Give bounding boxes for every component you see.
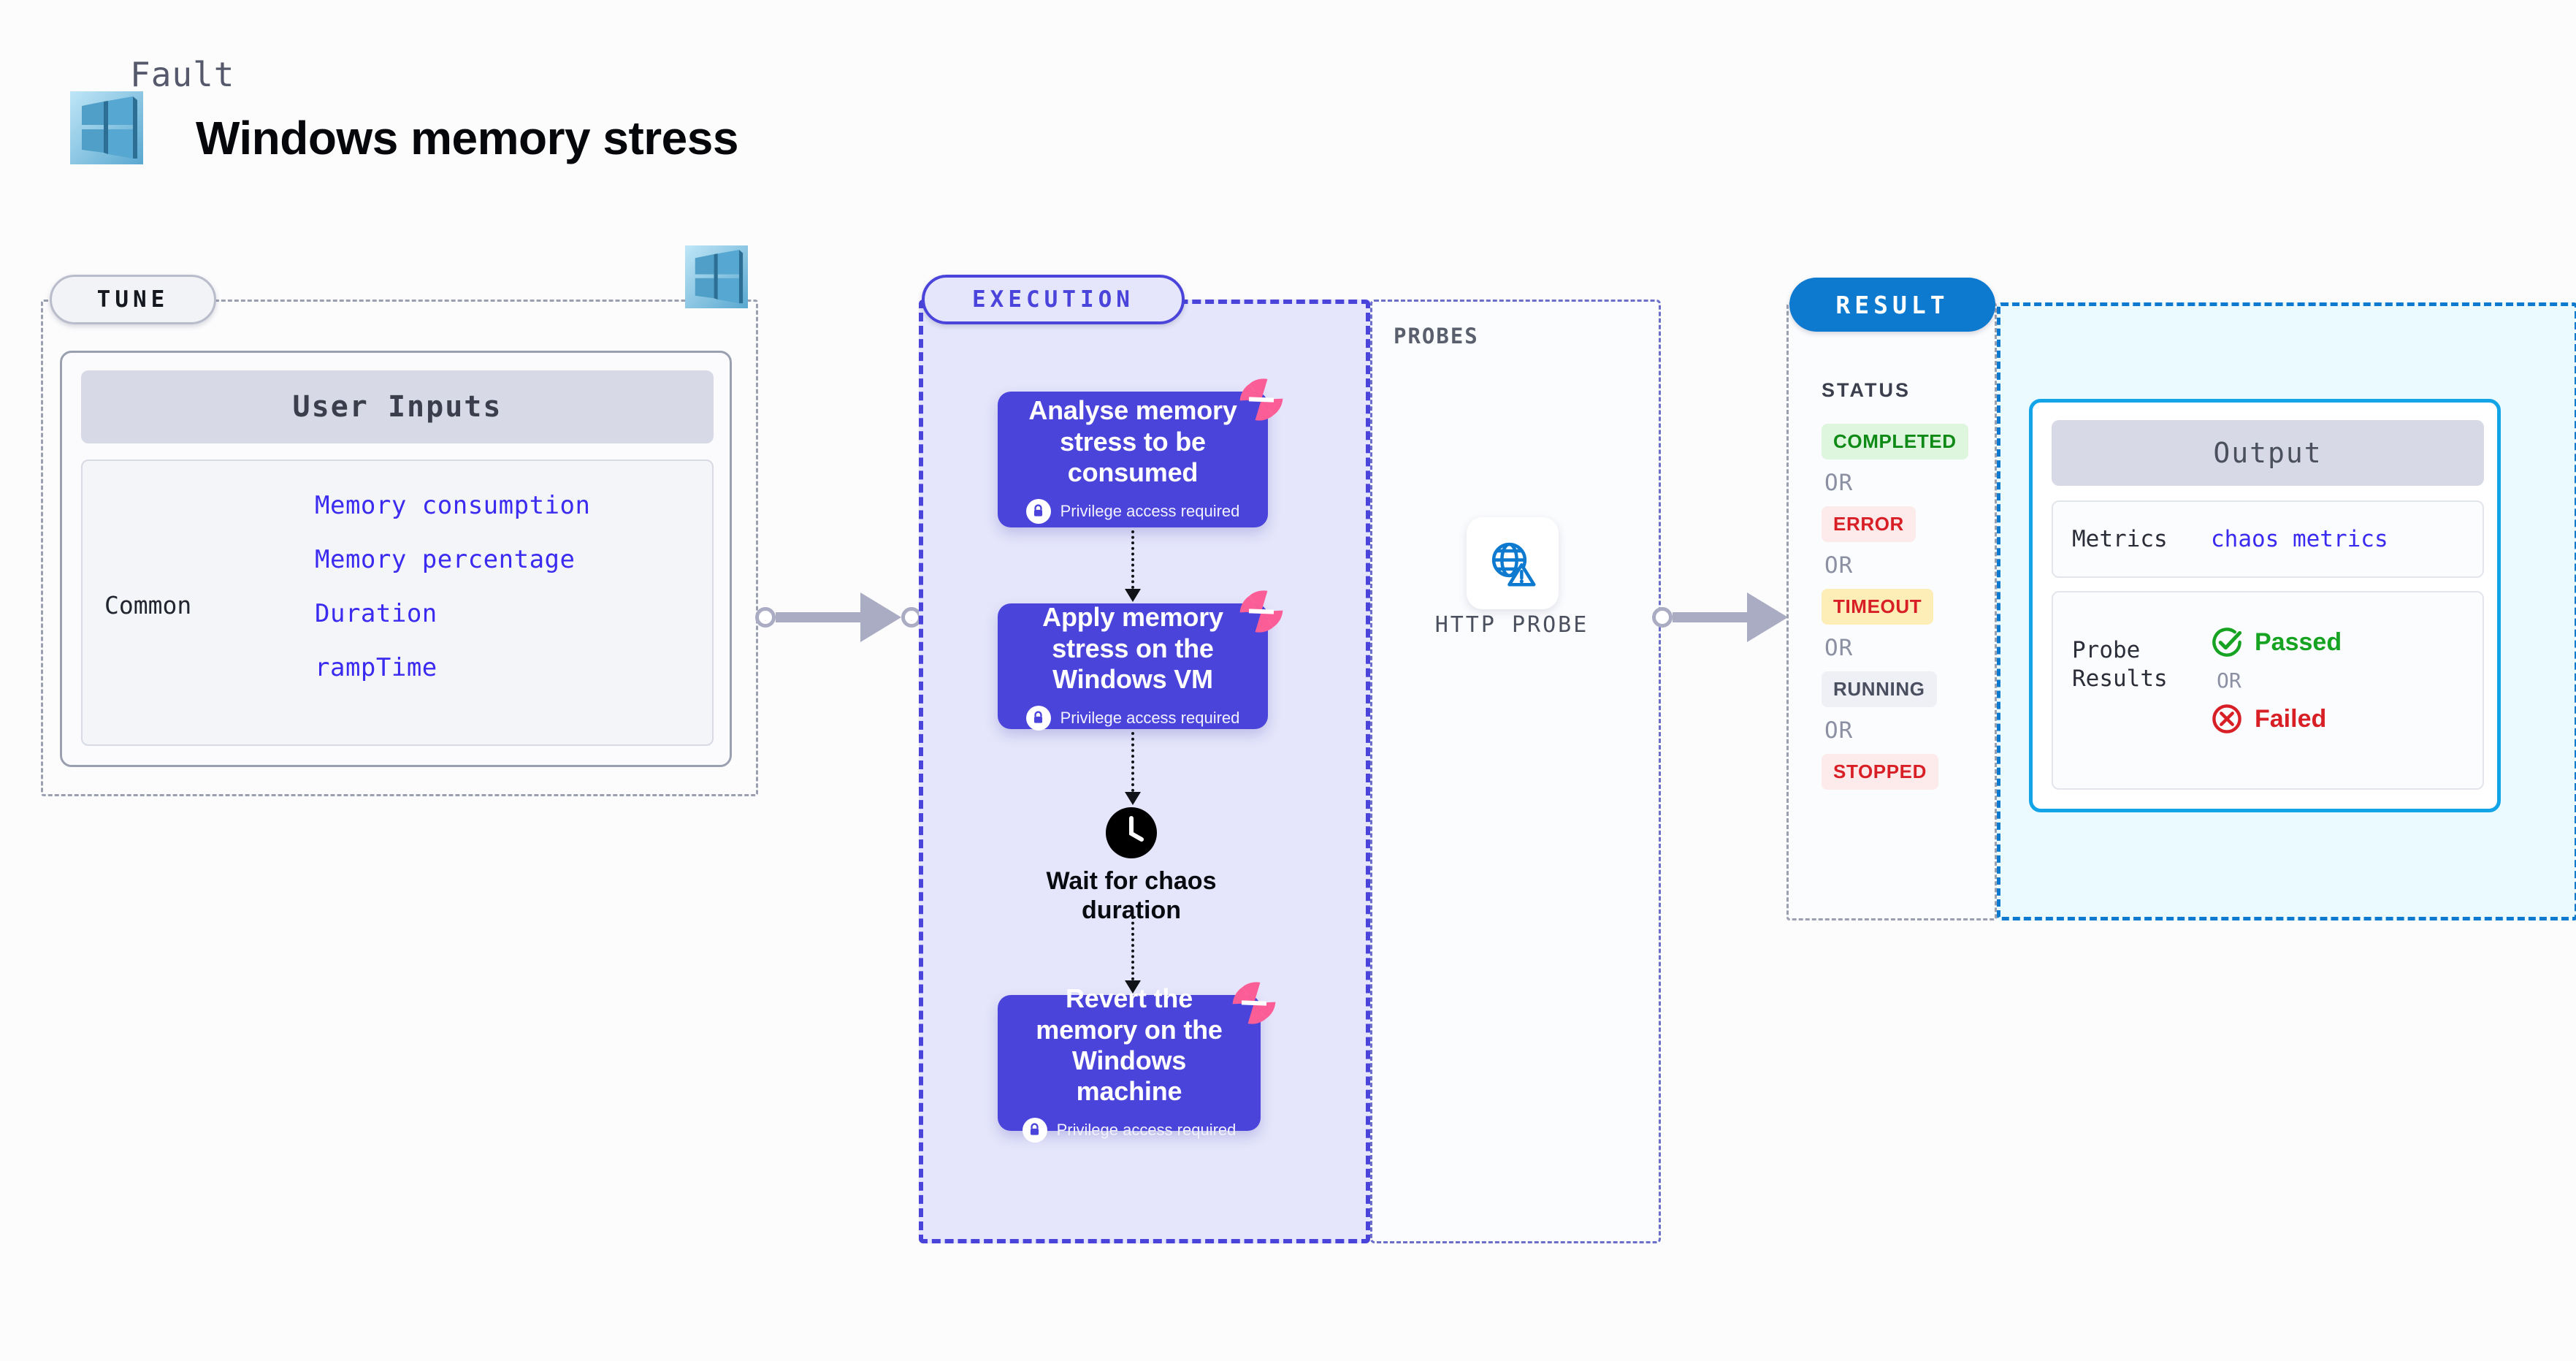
probes-region xyxy=(1370,300,1661,1243)
privilege-note-text: Privilege access required xyxy=(1057,1121,1237,1140)
privilege-note-text: Privilege access required xyxy=(1060,709,1240,728)
probes-label: PROBES xyxy=(1394,324,1479,348)
probe-failed-label: Failed xyxy=(2255,705,2326,733)
execution-step-title: Apply memory stress on the Windows VM xyxy=(998,602,1268,695)
execution-pill[interactable]: EXECUTION xyxy=(922,275,1185,324)
or-separator: OR xyxy=(1824,717,1990,744)
flow-arrow-down-icon xyxy=(1131,916,1134,992)
metrics-key: Metrics xyxy=(2072,525,2211,554)
page-kicker: Fault xyxy=(130,55,234,94)
lock-icon xyxy=(1026,499,1051,524)
status-badge: RUNNING xyxy=(1822,671,1937,707)
probe-passed-label: Passed xyxy=(2255,628,2342,657)
arrow-right-icon xyxy=(860,592,901,642)
connector-line xyxy=(776,612,862,622)
input-param-list: Memory consumption Memory percentage Dur… xyxy=(315,493,695,680)
connector-start-dot xyxy=(755,607,776,628)
or-separator: OR xyxy=(1824,470,1990,496)
result-pill[interactable]: RESULT xyxy=(1789,278,1995,332)
status-list: COMPLETED OR ERROR OR TIMEOUT OR RUNNING… xyxy=(1822,424,1990,790)
probe-result-passed: Passed xyxy=(2211,626,2342,658)
or-separator: OR xyxy=(2217,668,2342,693)
or-separator: OR xyxy=(1824,635,1990,661)
status-badge: ERROR xyxy=(1822,506,1916,542)
status-badge: STOPPED xyxy=(1822,754,1938,790)
output-metrics-row: Metrics chaos metrics xyxy=(2052,500,2484,578)
tune-pill[interactable]: TUNE xyxy=(50,275,216,324)
input-param[interactable]: Duration xyxy=(315,601,695,626)
execution-step-card[interactable]: Revert the memory on the Windows machine… xyxy=(998,995,1261,1131)
litmus-ribbon-icon xyxy=(1230,979,1278,1027)
input-param[interactable]: Memory percentage xyxy=(315,547,695,572)
output-title: Output xyxy=(2052,420,2484,486)
http-probe-caption: HTTP PROBE xyxy=(1402,612,1621,638)
clock-icon xyxy=(1105,807,1158,859)
privilege-note: Privilege access required xyxy=(1026,706,1240,731)
flow-arrow-down-icon xyxy=(1131,530,1134,601)
tune-windows-logo-icon xyxy=(685,243,748,311)
globe-warning-icon xyxy=(1486,537,1539,590)
http-probe-card[interactable] xyxy=(1467,517,1559,609)
execution-step-title: Revert the memory on the Windows machine xyxy=(998,983,1261,1108)
user-inputs-body: Common Memory consumption Memory percent… xyxy=(81,460,714,746)
privilege-note: Privilege access required xyxy=(1023,1118,1237,1143)
lock-icon xyxy=(1026,706,1051,731)
probe-result-failed: Failed xyxy=(2211,703,2342,735)
output-probe-results-row: ProbeResults Passed OR Failed xyxy=(2052,591,2484,790)
input-param[interactable]: Memory consumption xyxy=(315,493,695,518)
execution-step-title: Analyse memory stress to be consumed xyxy=(998,395,1268,488)
execution-step-card[interactable]: Apply memory stress on the Windows VM Pr… xyxy=(998,603,1268,729)
or-separator: OR xyxy=(1824,552,1990,579)
status-badge: TIMEOUT xyxy=(1822,589,1933,625)
connector-start-dot xyxy=(1652,607,1673,628)
windows-logo-icon xyxy=(70,91,143,164)
page-title: Windows memory stress xyxy=(196,111,738,165)
user-inputs-title: User Inputs xyxy=(81,370,714,443)
litmus-ribbon-icon xyxy=(1237,587,1285,636)
diagram-canvas: Fault Windows memory stress TUNE xyxy=(0,0,2576,1361)
litmus-ribbon-icon xyxy=(1237,375,1285,424)
user-inputs-card: User Inputs Common Memory consumption Me… xyxy=(60,351,732,767)
arrow-right-icon xyxy=(1747,592,1788,642)
input-param[interactable]: rampTime xyxy=(315,655,695,680)
connector-tune-to-execution xyxy=(755,595,922,639)
privilege-note: Privilege access required xyxy=(1026,499,1240,524)
output-card: Output Metrics chaos metrics ProbeResult… xyxy=(2029,399,2501,812)
x-circle-icon xyxy=(2211,703,2243,735)
probe-results-key: ProbeResults xyxy=(2072,636,2168,693)
privilege-note-text: Privilege access required xyxy=(1060,502,1240,521)
execution-step-card[interactable]: Analyse memory stress to be consumed Pri… xyxy=(998,392,1268,527)
lock-icon xyxy=(1023,1118,1047,1143)
connector-probes-to-result xyxy=(1652,595,1808,639)
input-group-label: Common xyxy=(104,591,191,619)
status-label: STATUS xyxy=(1822,379,1911,402)
flow-arrow-down-icon xyxy=(1131,732,1134,804)
connector-line xyxy=(1673,612,1748,622)
status-badge: COMPLETED xyxy=(1822,424,1968,460)
metrics-value[interactable]: chaos metrics xyxy=(2211,526,2388,552)
probe-results-values: Passed OR Failed xyxy=(2211,626,2342,735)
check-circle-icon xyxy=(2211,626,2243,658)
